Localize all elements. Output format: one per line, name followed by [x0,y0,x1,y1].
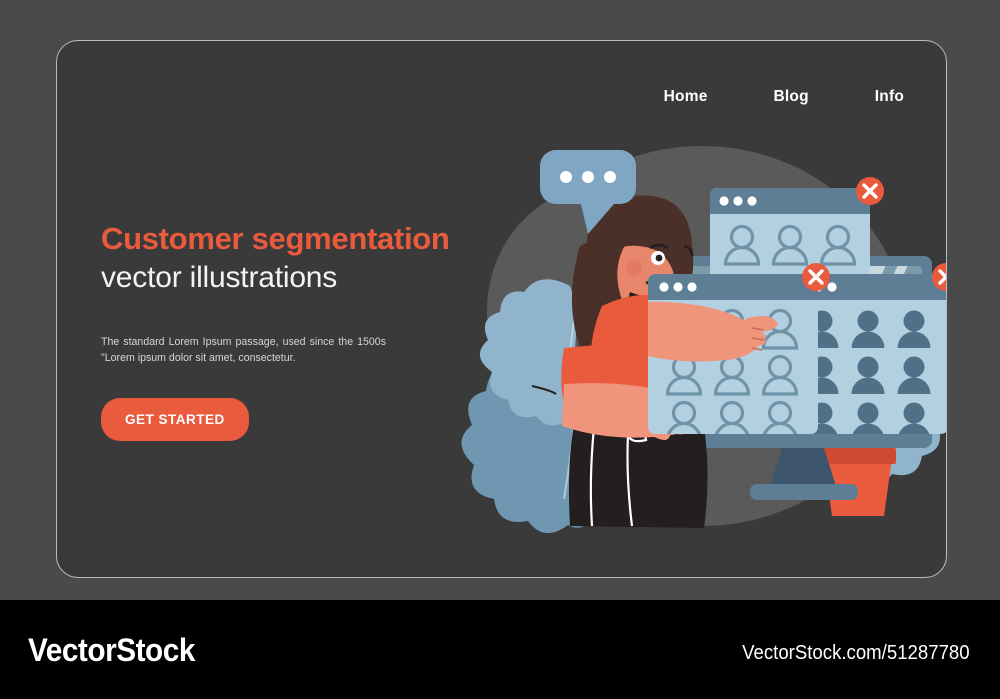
page-subtitle: vector illustrations [101,261,501,296]
window-left[interactable] [622,263,830,440]
page-title: Customer segmentation [101,221,501,257]
window-dot [733,196,742,205]
nav-item-home[interactable]: Home [664,89,708,105]
window-close-badge[interactable] [856,177,884,205]
main-navigation: Home Blog Info [664,89,904,105]
window-dot [659,282,668,291]
person-icon-grid [806,311,931,441]
nav-item-blog[interactable]: Blog [774,89,809,105]
window-dot [719,196,728,205]
screenshot-root: Home Blog Info Customer segmentation vec… [0,0,1000,699]
vectorstock-credit: VectorStock.com/51287780 [743,642,970,665]
vectorstock-logo: VectorStock [28,632,195,669]
nav-item-info[interactable]: Info [875,89,904,105]
customer-segmentation-illustration [452,106,946,576]
window-dot [827,282,836,291]
get-started-button[interactable]: GET STARTED [101,398,249,441]
window-close-badge[interactable] [802,263,830,291]
vectorstock-footer: VectorStock VectorStock.com/51287780 [0,600,1000,699]
window-dot [687,282,696,291]
window-dot [673,282,682,291]
window-dot [747,196,756,205]
hero-copy: Customer segmentation vector illustratio… [101,221,501,441]
landing-page-card: Home Blog Info Customer segmentation vec… [56,40,947,578]
hero-body-text: The standard Lorem Ipsum passage, used s… [101,334,386,367]
